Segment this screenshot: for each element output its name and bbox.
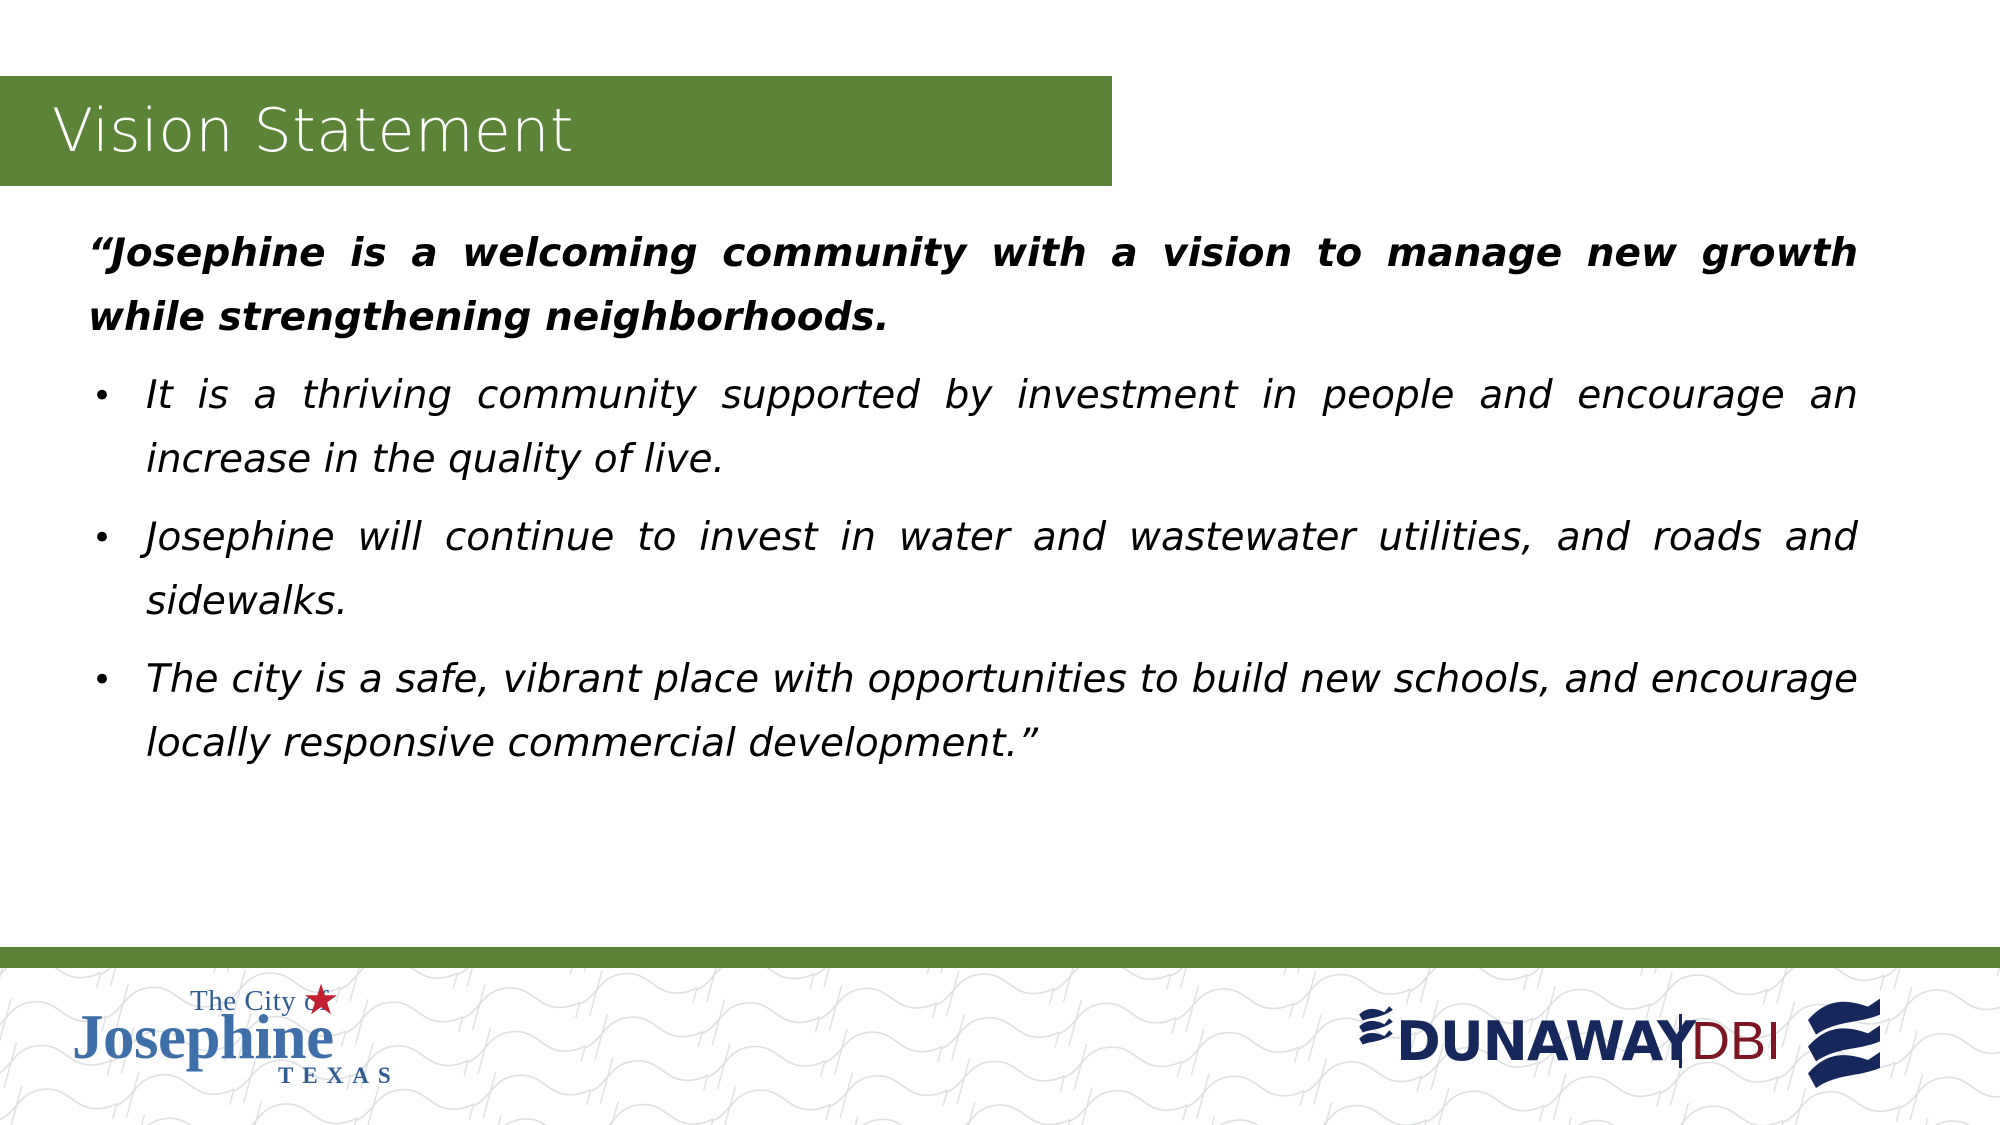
bullet-point-icon: • [88,506,146,570]
lead-paragraph: “Josephine is a welcoming community with… [88,222,1858,350]
dunaway-wordmark: DUNAWAY [1396,1010,1695,1073]
logo-divider [1679,1014,1682,1068]
footer-accent-stripe [0,947,2000,968]
wave-mark-small-icon [1358,1004,1394,1048]
josephine-logo-state: TEXAS [278,1063,400,1089]
list-item-text: The city is a safe, vibrant place with o… [146,648,1858,776]
bullet-point-icon: • [88,364,146,428]
title-bar: Vision Statement [0,76,1112,186]
wave-flag-icon [1804,996,1884,1092]
list-item: • Josephine will continue to invest in w… [88,506,1858,634]
dbi-wordmark: DBI [1691,1010,1781,1072]
list-item-text: Josephine will continue to invest in wat… [146,506,1858,634]
slide-canvas: Vision Statement “Josephine is a welcomi… [0,0,2000,1125]
slide-body: “Josephine is a welcoming community with… [88,222,1858,776]
bullet-point-icon: • [88,648,146,712]
page-title: Vision Statement [52,86,574,176]
dunaway-dbi-logo: DUNAWAY DBI [1358,1000,1878,1092]
list-item: • The city is a safe, vibrant place with… [88,648,1858,776]
josephine-city-logo: The City of Josephine TEXAS [72,985,432,1093]
list-item-text: It is a thriving community supported by … [146,364,1858,492]
list-item: • It is a thriving community supported b… [88,364,1858,492]
